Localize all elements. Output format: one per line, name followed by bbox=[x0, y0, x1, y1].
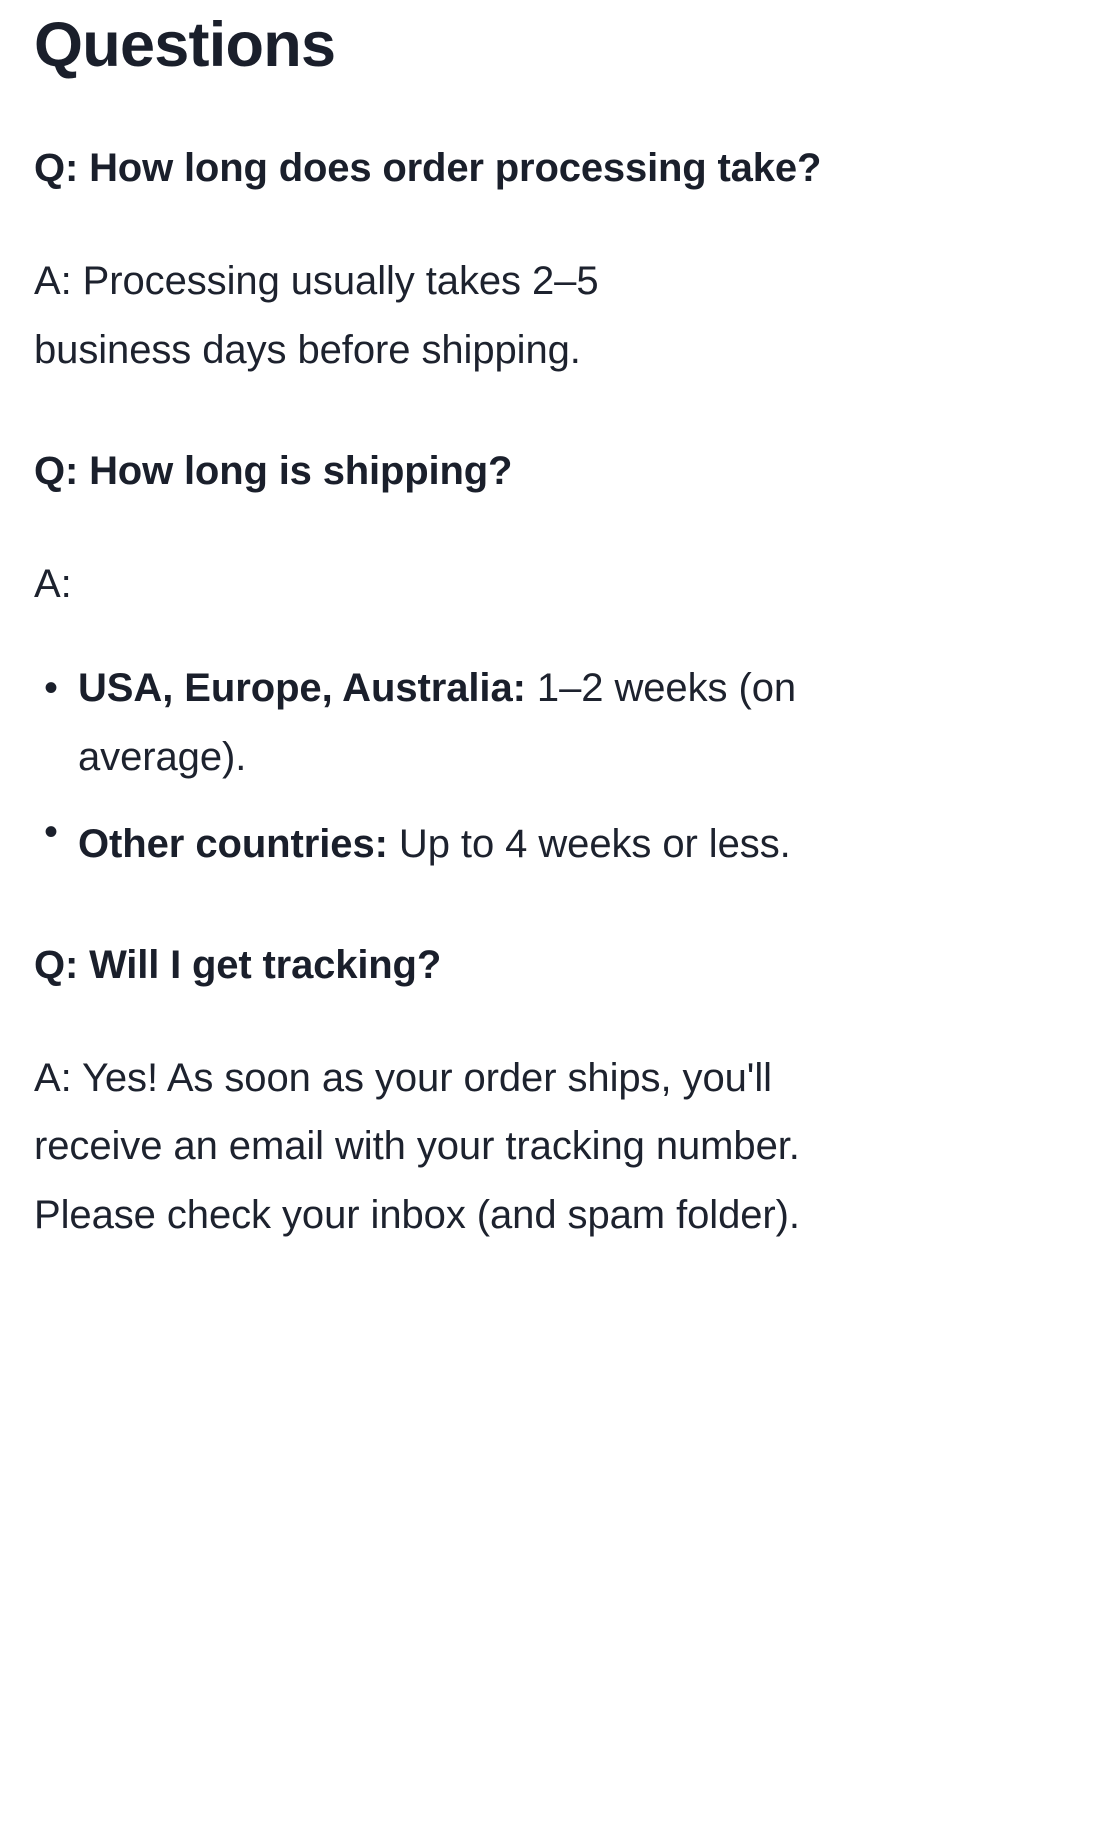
faq-answer: A: Processing usually takes 2–5 business… bbox=[34, 203, 754, 385]
bullet-point-icon: • bbox=[44, 654, 58, 723]
faq-item-processing-time: Q: How long does order processing take? … bbox=[34, 82, 1064, 384]
list-item: •Other countries: Up to 4 weeks or less. bbox=[34, 792, 908, 879]
faq-question: Q: Will I get tracking? bbox=[34, 879, 864, 1000]
faq-answer: A: Yes! As soon as your order ships, you… bbox=[34, 1000, 844, 1250]
faq-question: Q: How long does order processing take? bbox=[34, 82, 864, 203]
faq-answer: A: bbox=[34, 506, 854, 619]
faq-item-tracking: Q: Will I get tracking? A: Yes! As soon … bbox=[34, 879, 1064, 1250]
shipping-regions-list: •USA, Europe, Australia: 1–2 weeks (on a… bbox=[34, 618, 1064, 878]
faq-page: Questions Q: How long does order process… bbox=[0, 0, 1098, 1844]
list-item-label: USA, Europe, Australia: bbox=[78, 666, 526, 710]
list-item-label: Other countries: bbox=[78, 822, 388, 866]
faq-question: Q: How long is shipping? bbox=[34, 385, 864, 506]
list-item: •USA, Europe, Australia: 1–2 weeks (on a… bbox=[34, 648, 908, 792]
page-title: Questions bbox=[34, 0, 1064, 82]
bullet-point-icon: • bbox=[44, 798, 58, 867]
list-item-value: Up to 4 weeks or less. bbox=[388, 822, 791, 866]
faq-item-shipping-time: Q: How long is shipping? A: •USA, Europe… bbox=[34, 385, 1064, 879]
